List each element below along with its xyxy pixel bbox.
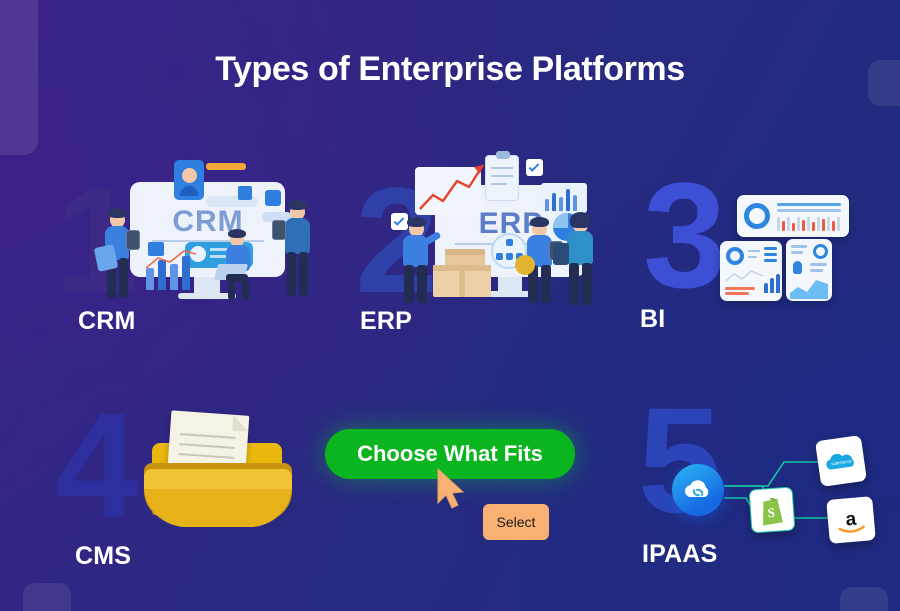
bi-dashboard-illustration bbox=[720, 195, 895, 305]
card-crm[interactable]: 1 CRM bbox=[55, 155, 325, 345]
card-label-crm: CRM bbox=[78, 307, 136, 336]
erp-illustration: ERP bbox=[393, 155, 623, 320]
poster-canvas: Types of Enterprise Platforms 1 CRM bbox=[0, 0, 900, 611]
card-ipaas[interactable]: 5 salesforce bbox=[630, 385, 900, 580]
crm-illustration: CRM bbox=[90, 160, 320, 320]
amazon-logo: a bbox=[826, 496, 876, 544]
card-label-bi: BI bbox=[640, 305, 665, 334]
mouse-cursor-icon bbox=[436, 468, 472, 510]
shopify-logo: S bbox=[749, 487, 796, 534]
card-label-ipaas: IPAAS bbox=[642, 540, 718, 569]
svg-text:a: a bbox=[845, 509, 858, 531]
cms-folder-illustration bbox=[140, 405, 320, 545]
card-label-cms: CMS bbox=[75, 542, 131, 571]
card-number-4: 4 bbox=[55, 390, 132, 540]
card-number-3: 3 bbox=[643, 160, 720, 310]
card-cms[interactable]: 4 CMS bbox=[55, 385, 335, 580]
page-title: Types of Enterprise Platforms bbox=[0, 50, 900, 89]
decorative-square-bottom-right bbox=[840, 587, 888, 611]
salesforce-logo: salesforce bbox=[815, 435, 867, 487]
card-erp[interactable]: 2 ERP bbox=[355, 155, 625, 345]
card-bi[interactable]: 3 bbox=[635, 155, 900, 345]
ipaas-integration-illustration: salesforce S a bbox=[650, 420, 880, 550]
decorative-square-bottom-left bbox=[23, 583, 71, 611]
card-label-erp: ERP bbox=[360, 307, 412, 336]
cloud-integration-icon bbox=[672, 464, 724, 516]
select-tooltip: Select bbox=[483, 504, 549, 540]
svg-text:S: S bbox=[767, 505, 775, 520]
